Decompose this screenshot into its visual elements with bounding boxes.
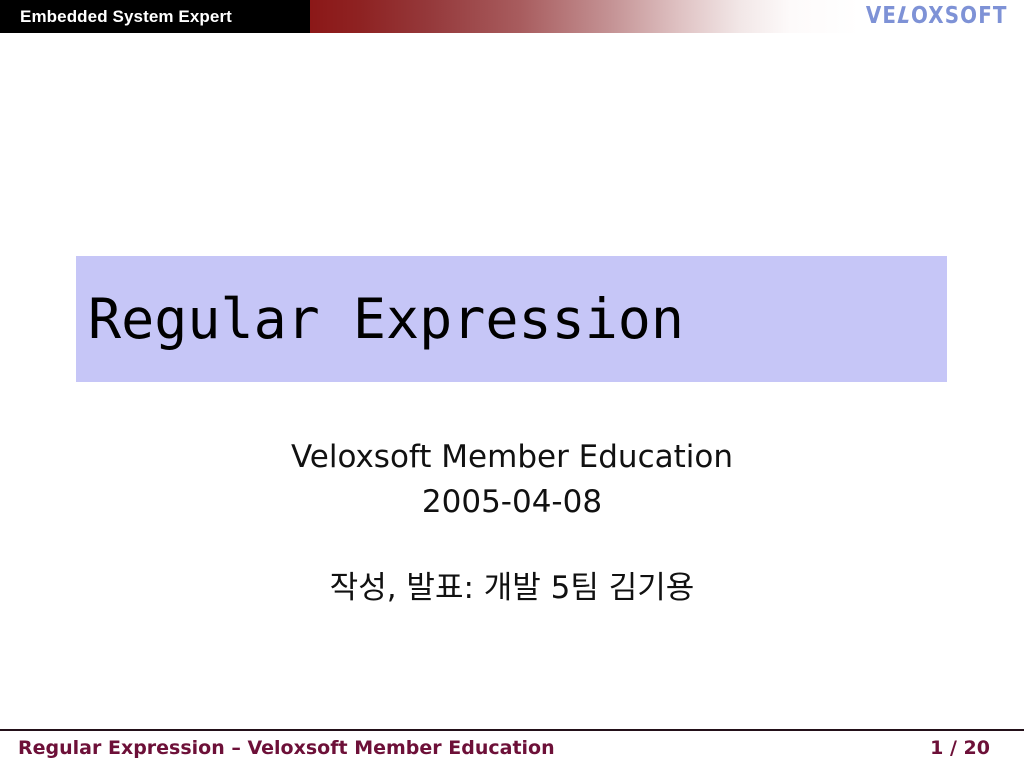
title-banner: Regular Expression bbox=[76, 256, 947, 382]
logo-text: VELOXSOFT bbox=[866, 3, 1008, 29]
slide-header: Embedded System Expert VELOXSOFT bbox=[0, 0, 1024, 33]
veloxsoft-logo: VELOXSOFT bbox=[866, 3, 1008, 29]
subtitle-block: Veloxsoft Member Education 2005-04-08 bbox=[0, 435, 1024, 525]
company-tagline: Embedded System Expert bbox=[20, 0, 232, 33]
slide-footer: Regular Expression – Veloxsoft Member Ed… bbox=[0, 729, 1024, 768]
slide-content-area: Regular Expression Veloxsoft Member Educ… bbox=[0, 33, 1024, 729]
author-block: 작성, 발표: 개발 5팀 김기용 bbox=[0, 566, 1024, 611]
slide-title: Regular Expression bbox=[88, 292, 684, 347]
subtitle-line-course: Veloxsoft Member Education bbox=[0, 435, 1024, 480]
footer-title-text: Regular Expression – Veloxsoft Member Ed… bbox=[18, 737, 555, 759]
page-number: 1 / 20 bbox=[930, 737, 990, 759]
subtitle-line-date: 2005-04-08 bbox=[0, 480, 1024, 525]
author-credit: 작성, 발표: 개발 5팀 김기용 bbox=[0, 566, 1024, 611]
logo-angular-l-glyph: L bbox=[894, 3, 915, 29]
footer-divider bbox=[0, 729, 1024, 731]
